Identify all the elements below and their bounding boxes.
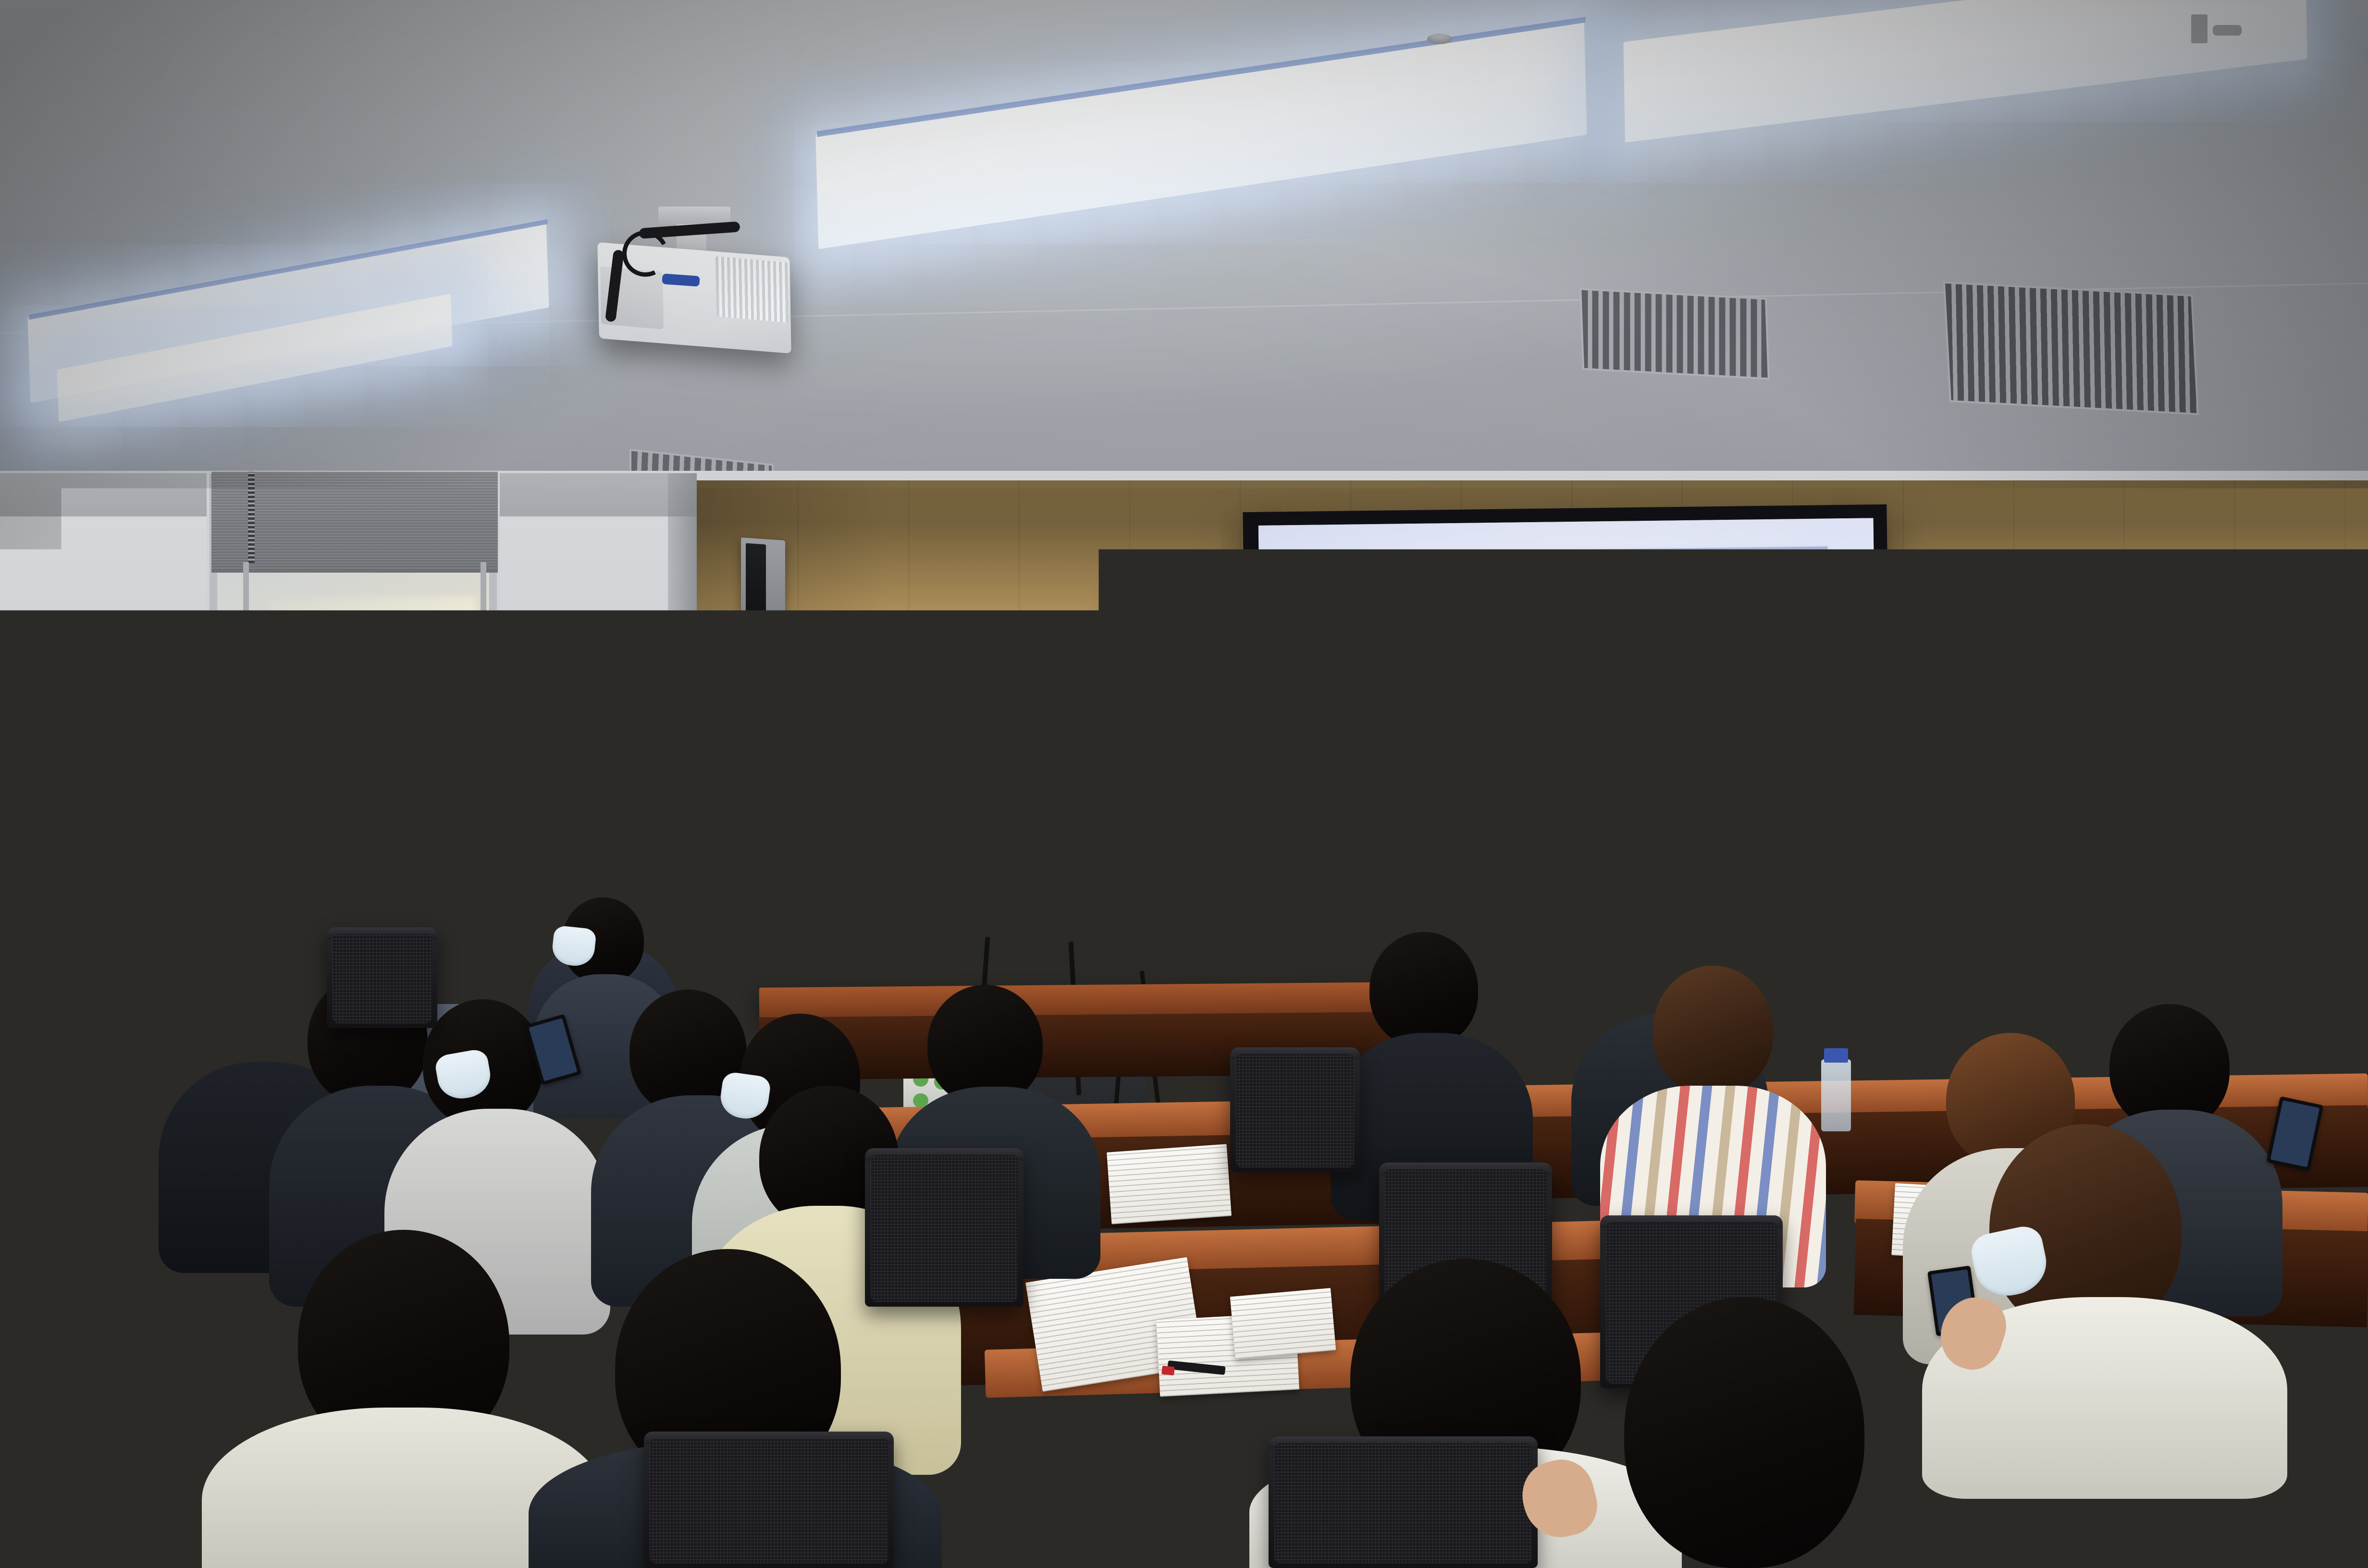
- chair-mesh-back: [333, 934, 432, 1023]
- bullet-heading: 建立联合培养工作机制: [1551, 865, 1788, 889]
- notice-footer-band: [1042, 761, 1094, 771]
- hvac-vent-louvers: [1581, 290, 1767, 378]
- chair-mesh-back: [1236, 1054, 1354, 1167]
- notice-text-line: [1048, 747, 1088, 748]
- pyramid-tier-2: [1379, 668, 1485, 704]
- pyramid-tier-5: [1331, 803, 1535, 840]
- audience-head: [1653, 966, 1773, 1095]
- sprinkler-head: [2191, 14, 2208, 43]
- bullet-heading: 共享SIAT高校资源: [1548, 623, 1787, 647]
- bullet-heading: 博后“一站式”服务: [1549, 744, 1775, 768]
- window-mullion: [243, 562, 249, 898]
- pyramid-tier-4: [1346, 758, 1521, 795]
- projection-screen: 联合培养博后，有利于发挥彼此优势，提升培养质量 共享SIAT高校资源 利用合作平: [1258, 518, 1879, 944]
- slide-pyramid: [1332, 616, 1508, 887]
- slide-title: 联合培养博后，有利于发挥彼此优势，提升培养质量: [1300, 549, 1809, 586]
- bullet-line: 共同建立基础平台、创建联合实验室: [1549, 719, 1799, 740]
- chair-foreground[interactable]: [1269, 1436, 1538, 1568]
- notice-square-blue: [1065, 730, 1069, 735]
- sprinkler-head: [2213, 25, 2242, 36]
- lecture-hall-photo: 联合培养博后，有利于发挥彼此优势，提升培养质量 共享SIAT高校资源 利用合作平: [0, 0, 2368, 1568]
- hvac-vent: [1579, 288, 1770, 380]
- bullet-line: 利用合作平台吸引优秀博后—23所联培高校: [1548, 648, 1787, 668]
- handout: [1230, 1288, 1336, 1359]
- chair[interactable]: [327, 927, 437, 1028]
- chair[interactable]: [865, 1148, 1024, 1307]
- bullet-line: 通过博后，推动导师之间的合作，共同申请项目: [1551, 838, 1813, 859]
- wall-notice: [1042, 724, 1094, 771]
- hvac-vent: [1943, 282, 2199, 415]
- projector-mount-arm: [658, 207, 730, 224]
- hvac-vent-louvers: [1945, 283, 2197, 413]
- notice-color-squares: [1046, 728, 1069, 737]
- pyramid-tier-3: [1360, 710, 1505, 751]
- slide: 联合培养博后，有利于发挥彼此优势，提升培养质量 共享SIAT高校资源 利用合作平: [1258, 518, 1879, 944]
- chair-mesh-back: [650, 1438, 888, 1563]
- bullet-heading: 共享SIAT平台资源: [1549, 674, 1799, 698]
- bullet-accent-bar: [1542, 643, 1545, 673]
- bag: [805, 916, 916, 992]
- projector-vent-grille: [715, 256, 789, 322]
- pen-cap: [1161, 1366, 1175, 1376]
- chair-mesh-back: [1274, 1443, 1532, 1563]
- chair-mesh-back: [871, 1155, 1018, 1302]
- bullet-line: 提供双导师培养机制，利用导师科研平台资源: [1549, 699, 1799, 720]
- chair[interactable]: [1230, 1047, 1360, 1172]
- slide-bullet-4: 搭建导师间合作桥梁 通过博后，推动导师之间的合作，共同申请项目: [1550, 813, 1813, 859]
- audience-head: [1369, 932, 1478, 1047]
- bullet-line: 提供博后进出站、考核、基金申请等政策: [1550, 769, 1775, 790]
- handout-text-lines: [1107, 1144, 1232, 1224]
- notice-square-green: [1059, 730, 1063, 735]
- bullet-heading: 搭建导师间合作桥梁: [1550, 813, 1813, 837]
- slide-title-bar: 联合培养博后，有利于发挥彼此优势，提升培养质量: [1289, 546, 1828, 588]
- slide-bullet-3: 博后“一站式”服务 提供博后进出站、考核、基金申请等政策 指导和日常工作协助: [1549, 744, 1775, 809]
- notice-logo: [1083, 728, 1090, 735]
- bottle-cap: [1824, 1048, 1848, 1063]
- bullet-accent-bar: [1542, 695, 1546, 741]
- bullet-line: 成立博后联合培养工作组，定期开展交流合: [1551, 890, 1788, 910]
- blind-pull-chain[interactable]: [248, 472, 255, 563]
- pyramid-tier-1: [1403, 617, 1463, 660]
- notice-text-line: [1048, 752, 1064, 754]
- audience-head-foreground: [1624, 1297, 1864, 1568]
- window-daylight: [270, 596, 477, 894]
- slide-bullet-list: 共享SIAT高校资源 利用合作平台吸引优秀博后—23所联培高校 共享SIAT平台…: [1548, 622, 1865, 625]
- wall-speaker-grille: [746, 543, 766, 627]
- bullet-line: 指导和日常工作协助: [1550, 789, 1775, 809]
- notice-text-line: [1048, 741, 1085, 743]
- water-bottle: [1821, 1059, 1851, 1131]
- phone-screen: [2270, 1100, 2319, 1167]
- notice-square-red: [1046, 730, 1050, 735]
- handout: [1107, 1144, 1232, 1224]
- slide-bullet-1: 共享SIAT高校资源 利用合作平台吸引优秀博后—23所联培高校: [1548, 623, 1787, 668]
- window-mullion: [481, 562, 486, 898]
- bullet-accent-bar: [1543, 764, 1547, 810]
- bullet-accent-bar: [1544, 885, 1548, 931]
- chalkboard-seam: [1194, 594, 1198, 1010]
- bullet-accent-bar: [1544, 833, 1548, 863]
- handout-text-lines: [1230, 1288, 1336, 1359]
- slide-bullet-2: 共享SIAT平台资源 提供双导师培养机制，利用导师科研平台资源 共同建立基础平台…: [1549, 674, 1800, 740]
- notice-square-yellow: [1052, 730, 1056, 735]
- chair-foreground[interactable]: [644, 1432, 894, 1568]
- smoke-detector: [1427, 34, 1452, 44]
